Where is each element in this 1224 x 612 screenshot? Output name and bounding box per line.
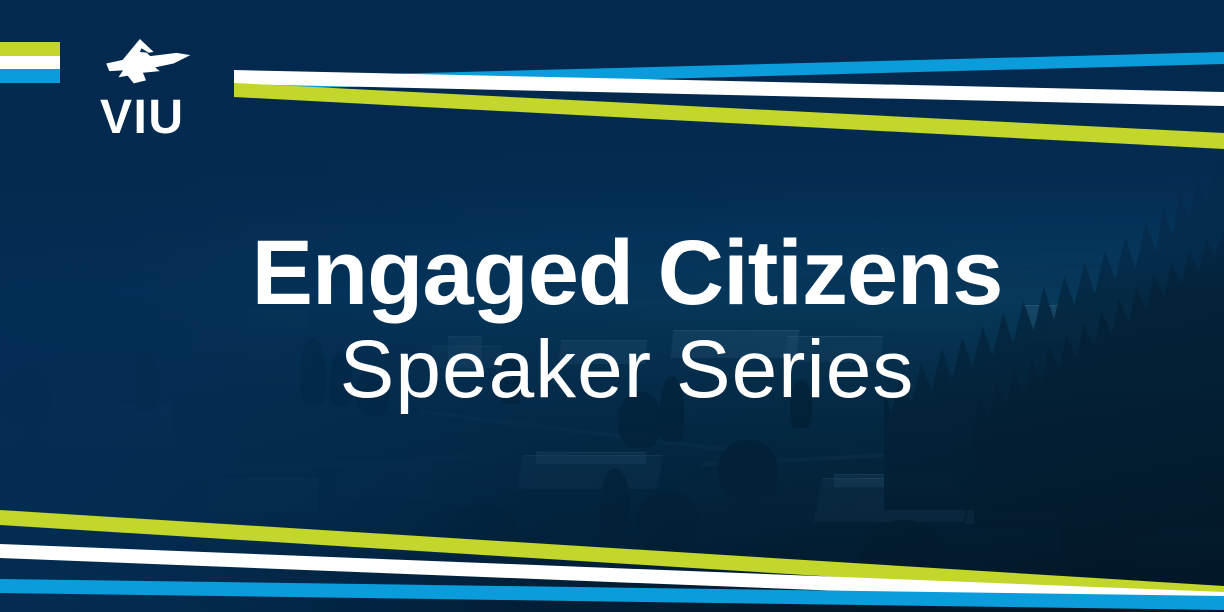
title-line-2: Speaker Series bbox=[30, 328, 1224, 412]
viu-wordmark: VIU bbox=[100, 94, 220, 142]
viu-logo[interactable]: VIU bbox=[100, 36, 220, 142]
speaker-series-banner: VIU Engaged Citizens Speaker Series bbox=[0, 0, 1224, 612]
title-block: Engaged Citizens Speaker Series bbox=[0, 228, 1224, 412]
title-line-1: Engaged Citizens bbox=[30, 228, 1224, 318]
viu-eagle-mountain-mark bbox=[100, 36, 192, 88]
